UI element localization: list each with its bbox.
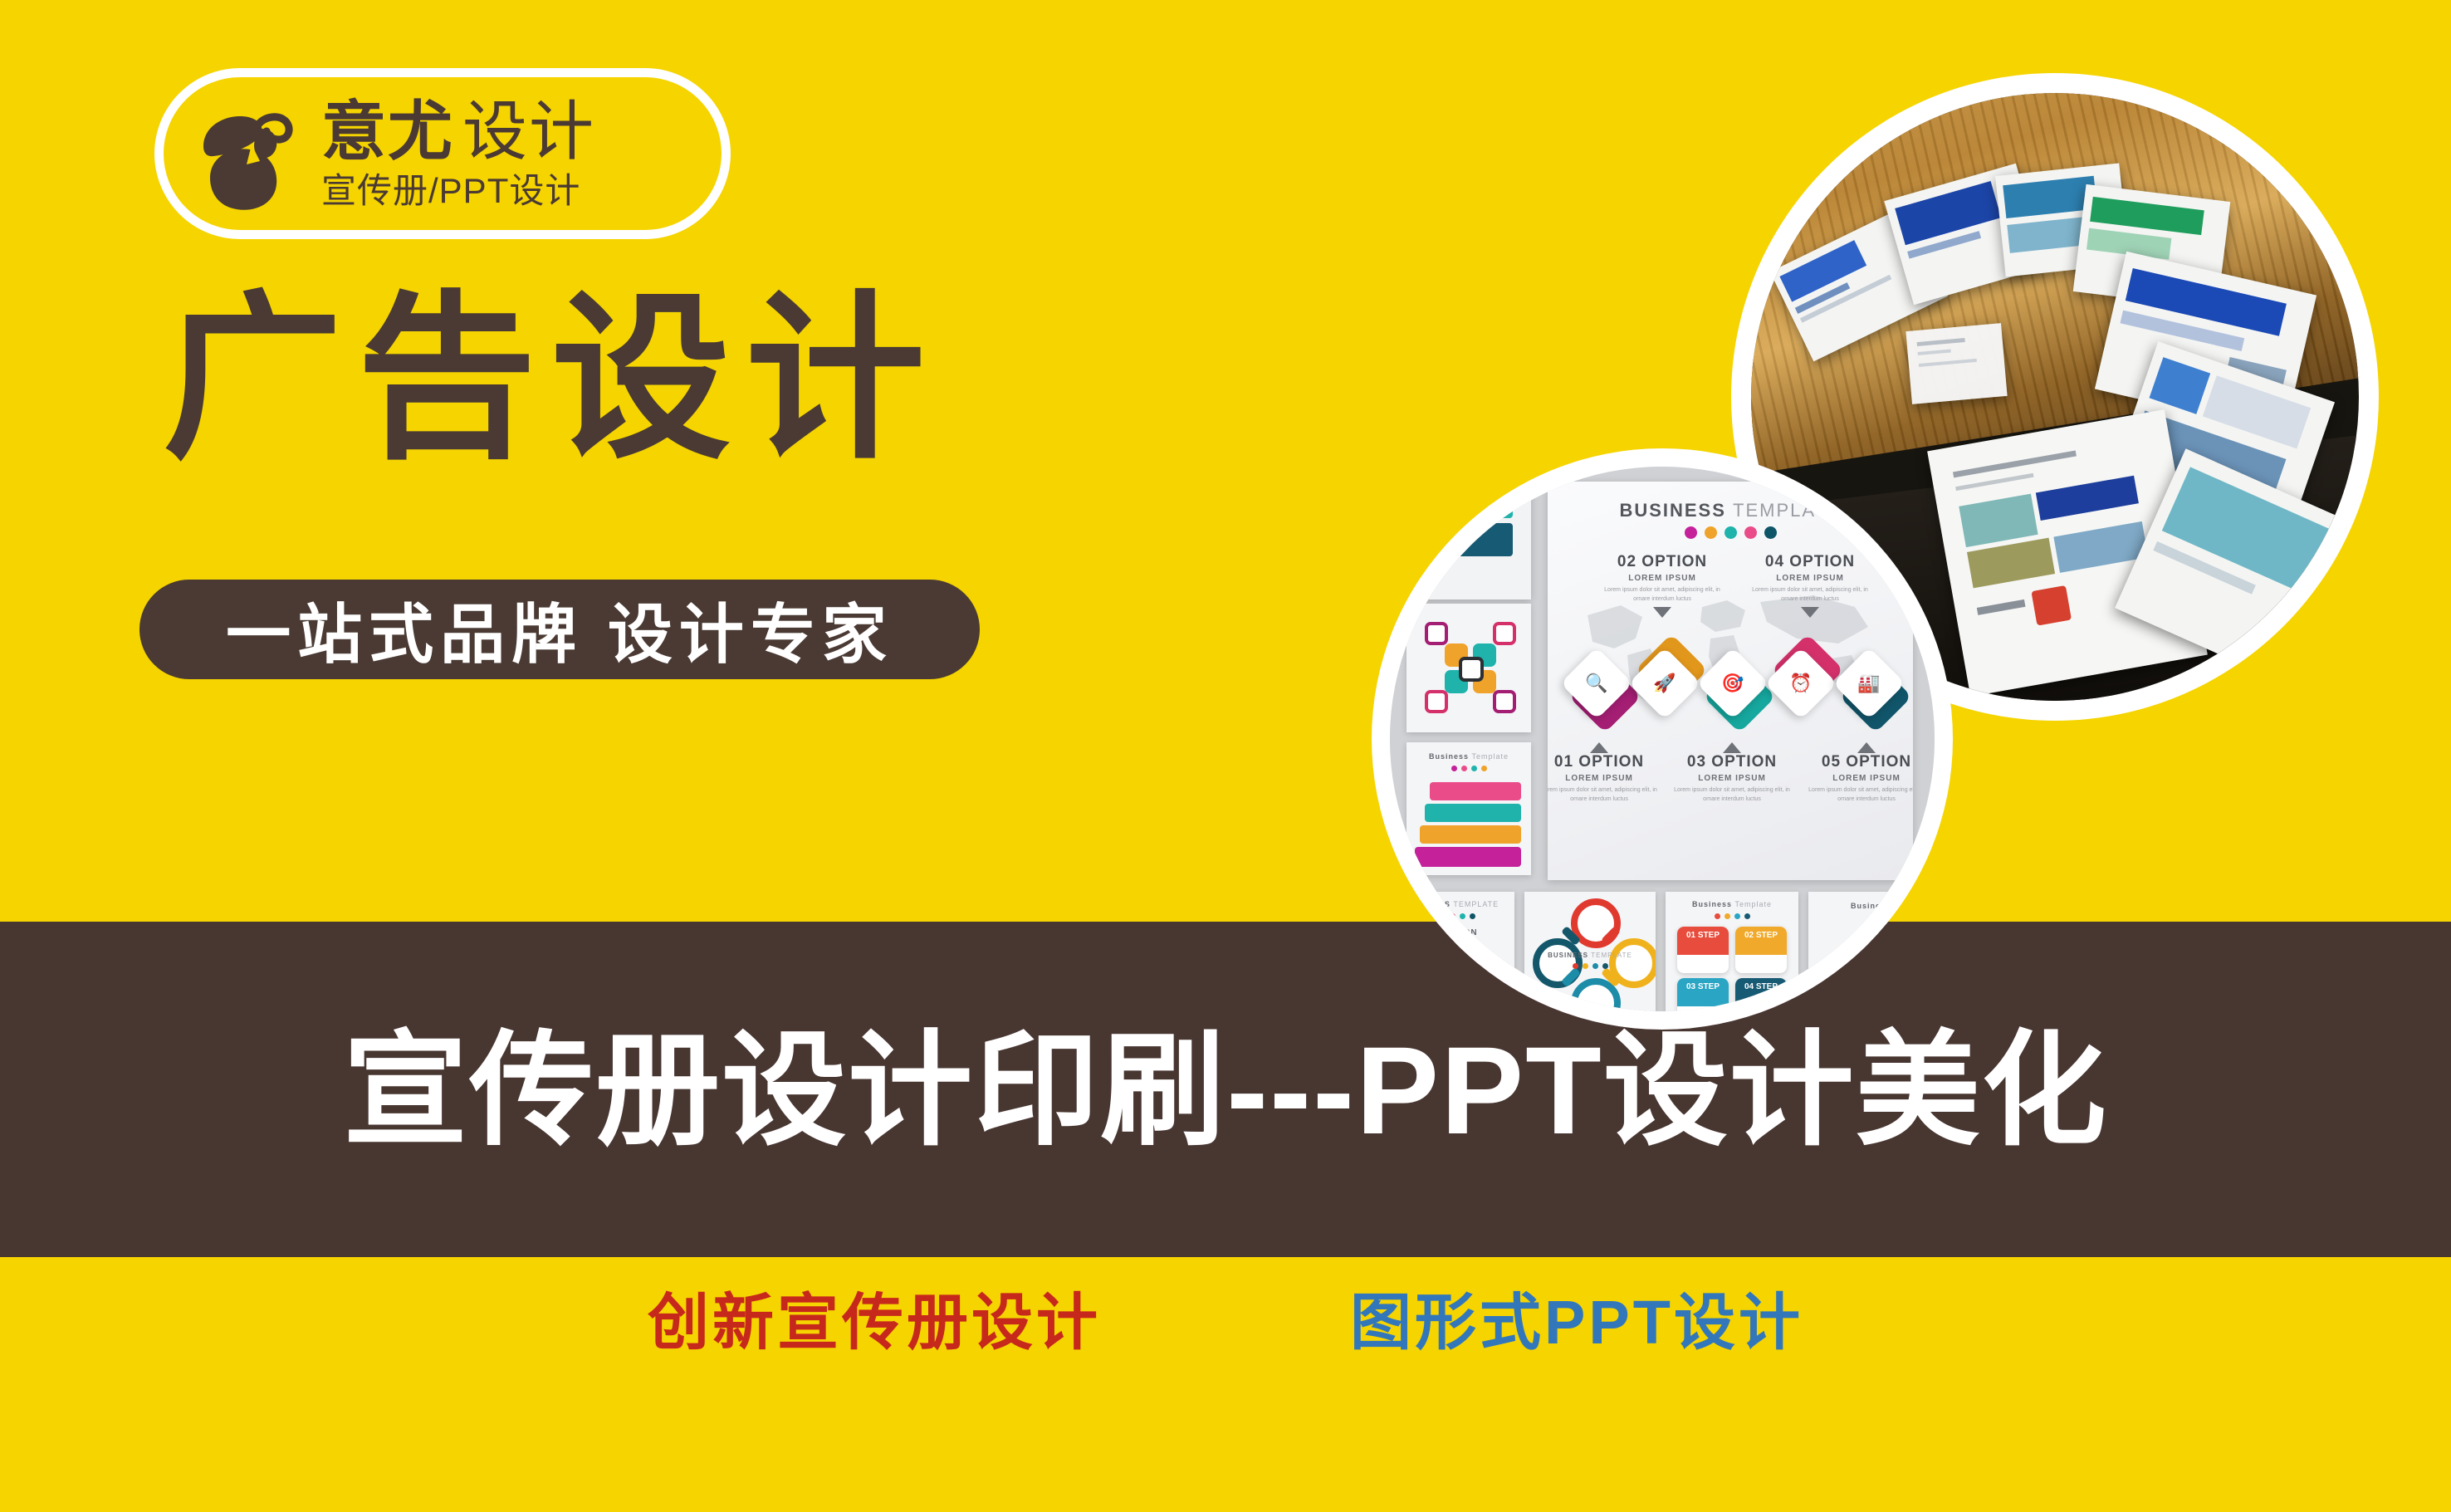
page-title: 广告设计 [163, 289, 940, 468]
ppt-main-slide: BUSINESS TEMPLATE [1548, 482, 1913, 880]
ppt-template-circle: Business Template BUSINESS [1372, 448, 1953, 1030]
ppt-thumb-partial-right: Business [1808, 892, 1933, 1011]
ppt-thumb-circle-cycle: BUSINESS TEMPLATE [1524, 892, 1656, 1011]
logo-text-group: 意尤 设计 宣传册/PPT设计 [321, 99, 595, 208]
tagline-text: 一站式品牌 设计专家 [226, 583, 893, 676]
ppt-option-02: 02 OPTION LOREM IPSUM Lorem ipsum dolor … [1604, 553, 1720, 618]
ppt-option-01: 01 OPTION LOREM IPSUM Lorem ipsum dolor … [1548, 739, 1657, 804]
logo-subtitle: 宣传册/PPT设计 [321, 174, 595, 208]
ad-banner-canvas: 意尤 设计 宣传册/PPT设计 广告设计 一站式品牌 设计专家 宣传册设计印刷-… [0, 0, 2451, 1512]
logo-badge[interactable]: 意尤 设计 宣传册/PPT设计 [154, 68, 731, 239]
ppt-thumb-map-option: BUSINESS TEMPLATE 04 OPTION [1390, 892, 1514, 1011]
ppt-thumb-four-steps: Business Template 01 STEP 02 STEP 03 S [1666, 892, 1798, 1011]
bottom-label-row: 创新宣传册设计 图形式PPT设计 [0, 1292, 2451, 1353]
leaf-bean-logo-mark-icon [185, 91, 310, 216]
card-holder [1906, 323, 2007, 404]
ppt-thumb-x-grid [1407, 604, 1531, 732]
tagline-pill: 一站式品牌 设计专家 [139, 580, 980, 679]
ppt-thumb-top-left [1390, 467, 1531, 599]
ppt-option-05: 05 OPTION LOREM IPSUM Lorem ipsum dolor … [1808, 739, 1913, 804]
bottom-label-brochure: 创新宣传册设计 [648, 1292, 1101, 1353]
band-title: 宣传册设计印刷---PPT设计美化 [0, 1028, 2451, 1152]
logo-brand-bold: 意尤 [321, 99, 454, 164]
ppt-main-title: BUSINESS TEMPLATE [1548, 500, 1913, 521]
stamp-s-logo [2031, 585, 2072, 626]
bottom-label-ppt: 图形式PPT设计 [1350, 1292, 1803, 1353]
thumb-label: Business Template [1407, 752, 1531, 761]
ppt-option-04: 04 OPTION LOREM IPSUM Lorem ipsum dolor … [1752, 553, 1868, 618]
ppt-thumb-pyramid: Business Template [1407, 742, 1531, 875]
logo-brand-thin: 设计 [462, 99, 595, 164]
ppt-slide-deck: Business Template BUSINESS [1390, 467, 1935, 1011]
ppt-option-03: 03 OPTION LOREM IPSUM Lorem ipsum dolor … [1674, 739, 1790, 804]
ppt-color-dots [1548, 526, 1913, 539]
logo-brand-name: 意尤 设计 [321, 99, 595, 164]
ppt-template-inner: Business Template BUSINESS [1390, 467, 1935, 1011]
